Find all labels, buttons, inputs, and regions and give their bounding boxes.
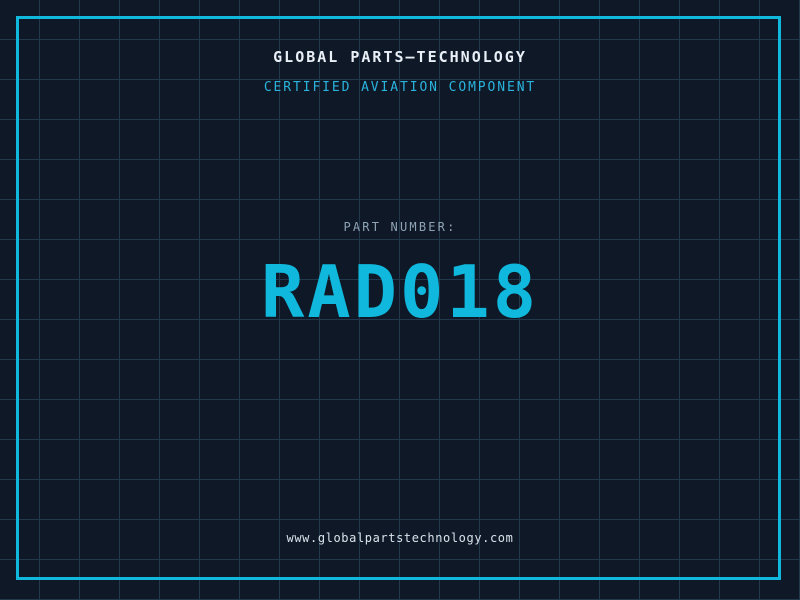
brand-subtitle: CERTIFIED AVIATION COMPONENT: [0, 80, 800, 95]
website-url: www.globalpartstechnology.com: [0, 531, 800, 545]
parts-label-card: GLOBAL PARTS—TECHNOLOGY CERTIFIED AVIATI…: [0, 0, 800, 600]
part-number-value: RAD018: [0, 256, 800, 328]
brand-title: GLOBAL PARTS—TECHNOLOGY: [0, 48, 800, 66]
part-number-label: PART NUMBER:: [0, 220, 800, 234]
